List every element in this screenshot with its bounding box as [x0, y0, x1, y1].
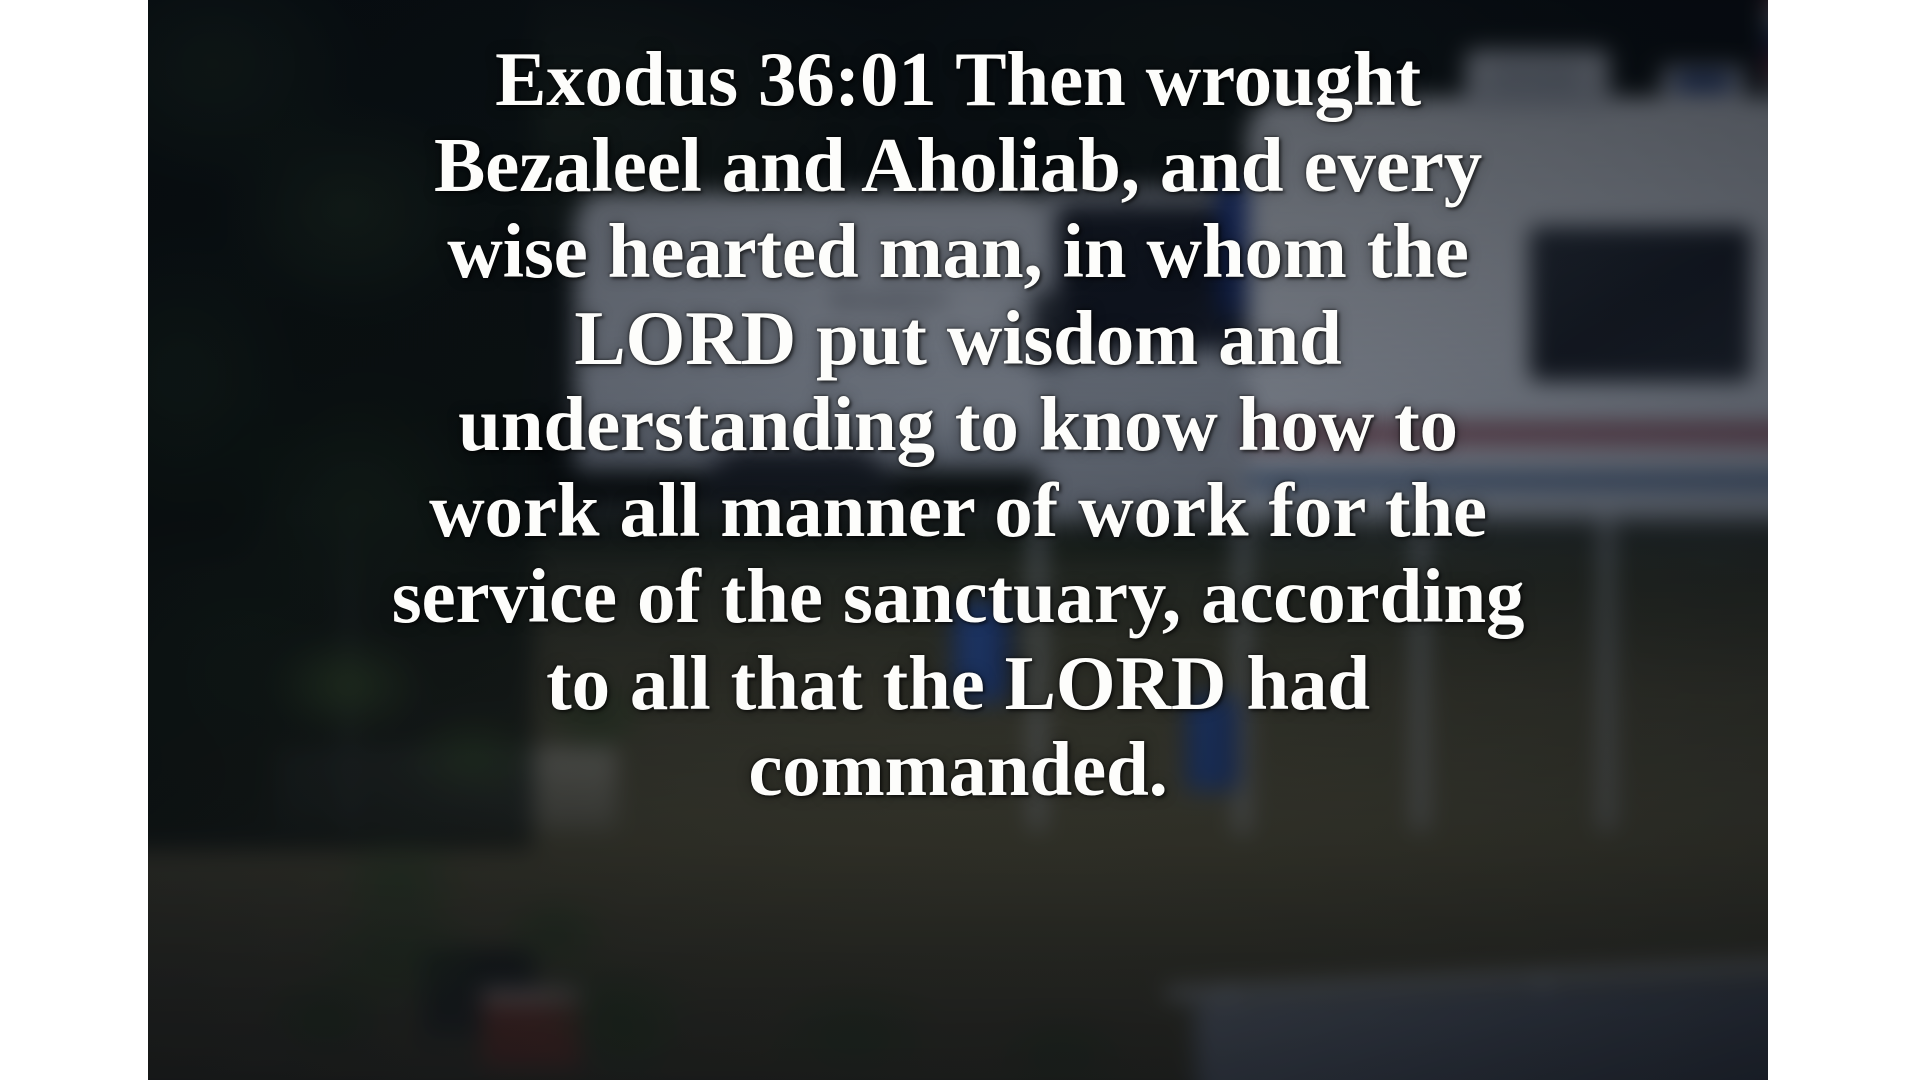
image-canvas: Komfort: [0, 0, 1920, 1080]
photo-overlay-tint: [148, 0, 1768, 1080]
background-photo: Komfort: [148, 0, 1768, 1080]
